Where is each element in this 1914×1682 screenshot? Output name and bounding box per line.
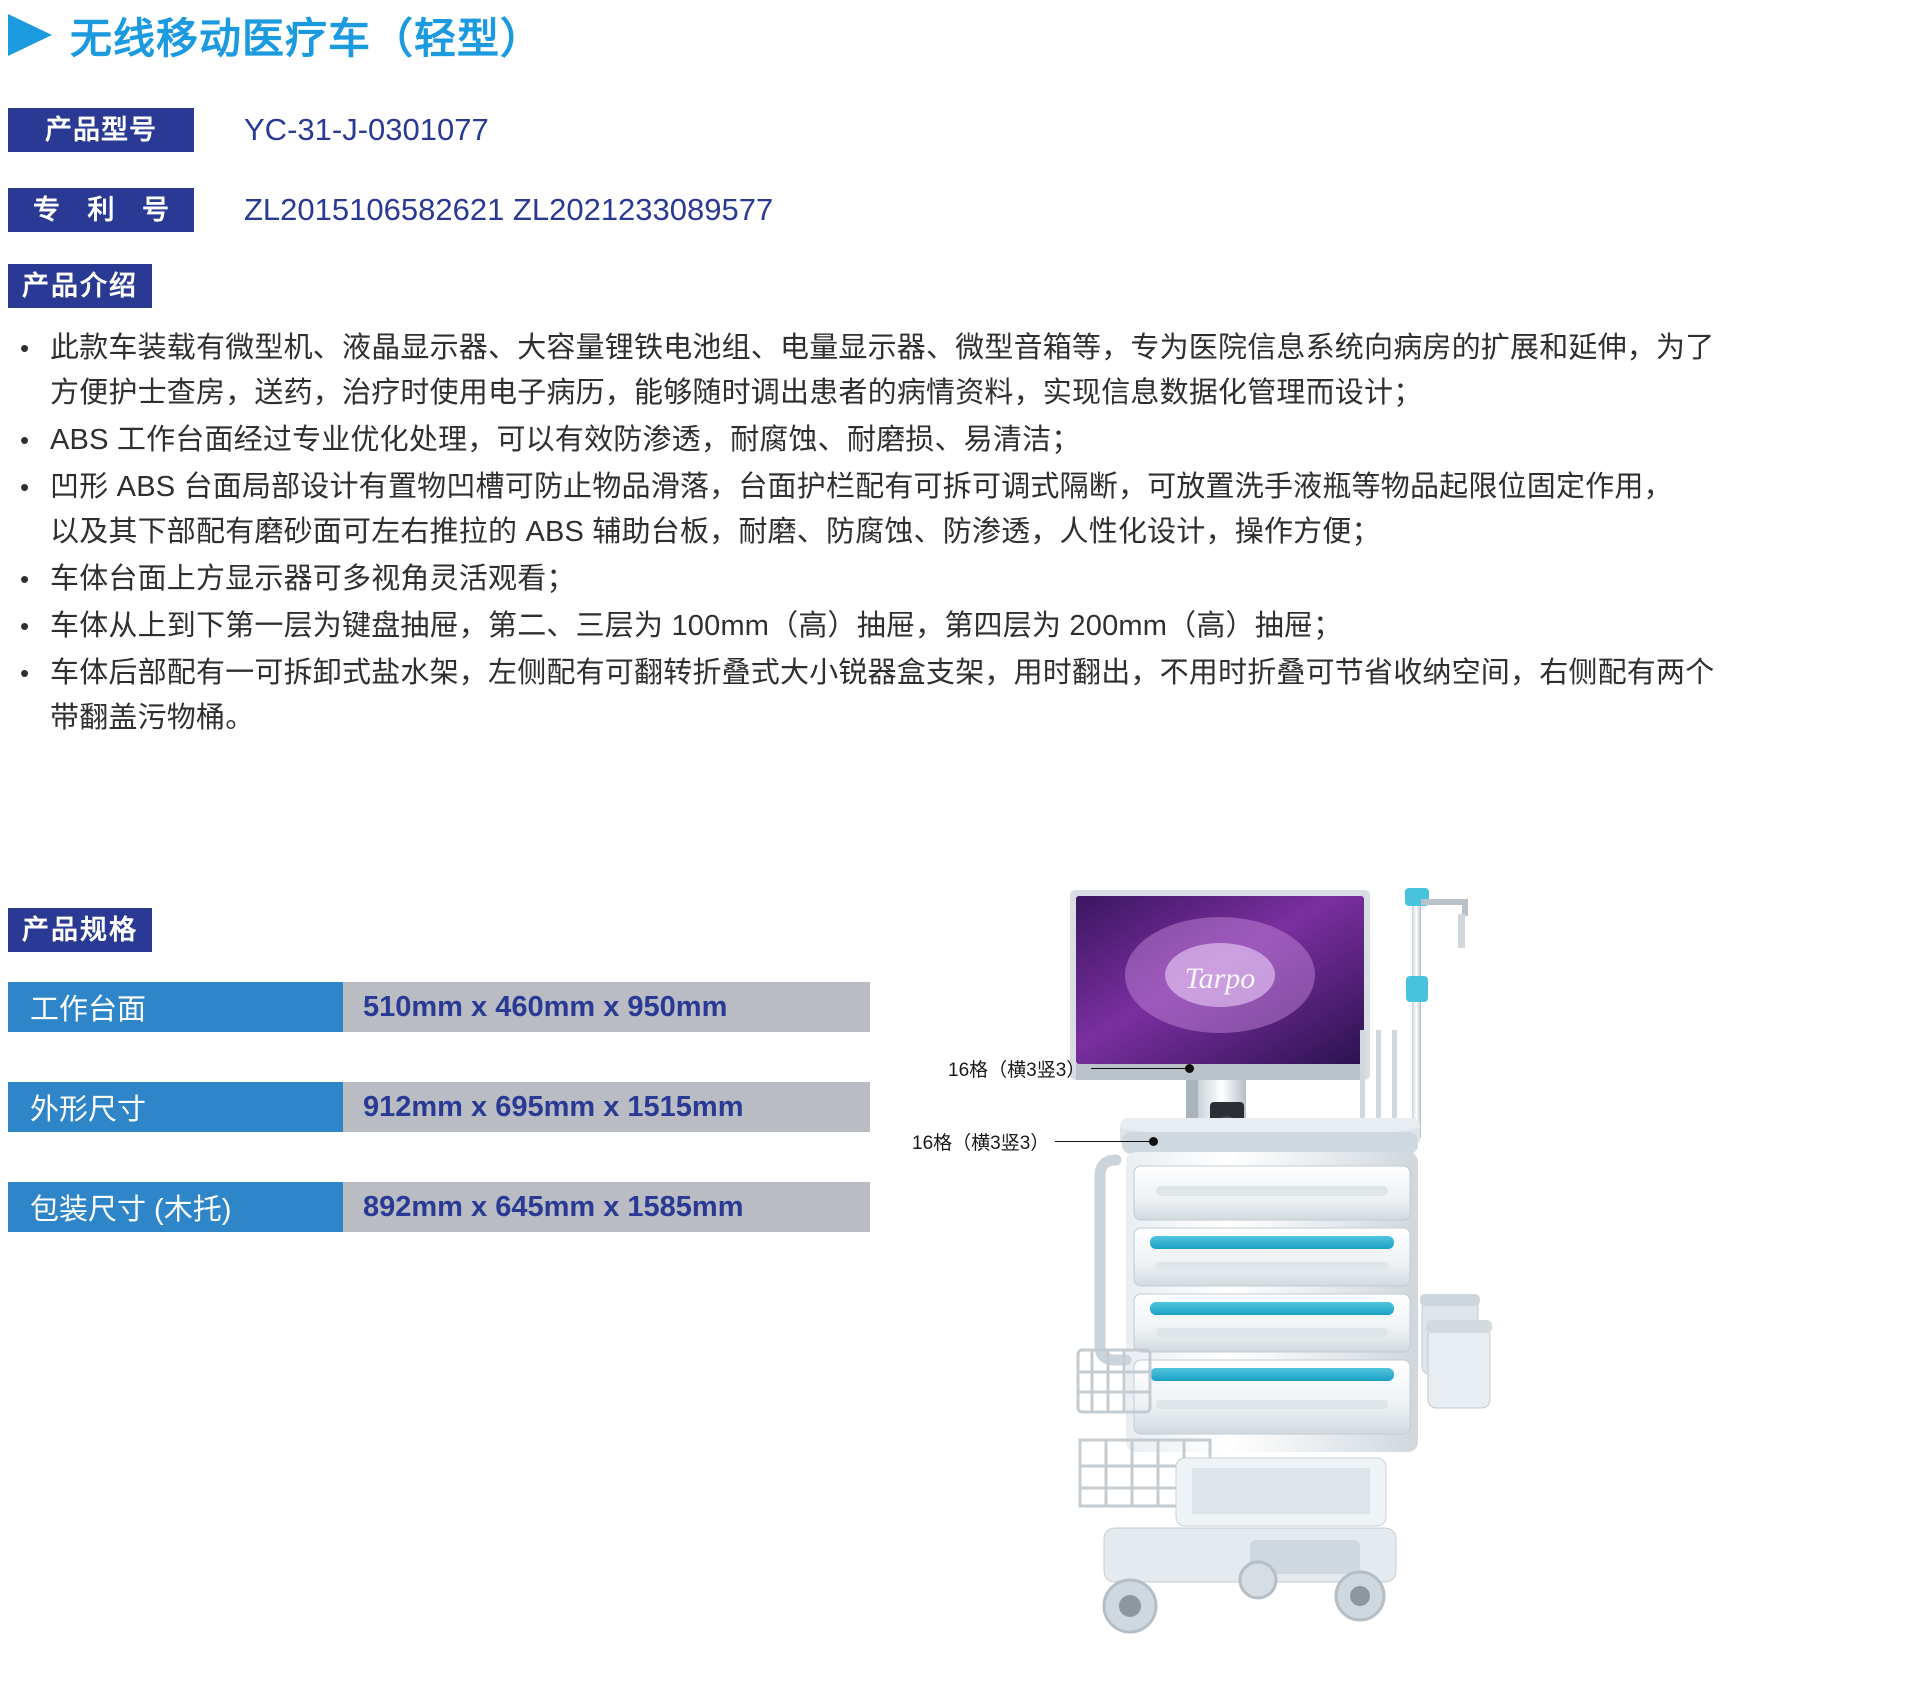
bullet-line: 以及其下部配有磨砂面可左右推拉的 ABS 辅助台板，耐磨、防腐蚀、防渗透，人性化… — [50, 510, 1888, 555]
patent-number-value: ZL2015106582621 ZL2021233089577 — [244, 192, 773, 228]
page-header: 无线移动医疗车（轻型） — [0, 0, 1100, 70]
triangle-play-icon — [8, 12, 52, 58]
page-title: 无线移动医疗车（轻型） — [70, 5, 543, 66]
patent-number-row: 专 利 号 ZL2015106582621 ZL2021233089577 — [8, 188, 773, 232]
svg-text:Tarpo: Tarpo — [1185, 962, 1256, 995]
table-row: 外形尺寸 912mm x 695mm x 1515mm — [8, 1082, 870, 1132]
bullet-line: 带翻盖污物桶。 — [50, 696, 1888, 741]
spec-value: 912mm x 695mm x 1515mm — [343, 1082, 870, 1132]
spec-label: 外形尺寸 — [8, 1082, 343, 1132]
patent-number-label: 专 利 号 — [8, 188, 194, 232]
bullet-line: ABS 工作台面经过专业优化处理，可以有效防渗透，耐腐蚀、耐磨损、易清洁； — [50, 418, 1888, 463]
bullet-line: 车体后部配有一可拆卸式盐水架，左侧配有可翻转折叠式大小锐器盒支架，用时翻出，不用… — [50, 651, 1888, 696]
spec-label: 包装尺寸 (木托) — [8, 1182, 343, 1232]
list-item: 车体台面上方显示器可多视角灵活观看； — [8, 557, 1888, 602]
callout-label: 16格（横3竖3） — [912, 1128, 1049, 1155]
list-item: 此款车装载有微型机、液晶显示器、大容量锂铁电池组、电量显示器、微型音箱等，专为医… — [8, 326, 1888, 416]
spec-value: 510mm x 460mm x 950mm — [343, 982, 870, 1032]
bullet-line: 车体从上到下第一层为键盘抽屉，第二、三层为 100mm（高）抽屉，第四层为 20… — [50, 604, 1888, 649]
callout-lower: 16格（横3竖3） — [912, 1128, 1158, 1155]
callout-label: 16格（横3竖3） — [948, 1055, 1085, 1082]
section-title-intro: 产品介绍 — [8, 264, 152, 308]
callout-leader-line — [1055, 1141, 1151, 1142]
table-row: 工作台面 510mm x 460mm x 950mm — [8, 982, 870, 1032]
table-row-divider — [8, 1132, 870, 1182]
section-title-spec: 产品规格 — [8, 908, 152, 952]
callout-dot — [1149, 1137, 1158, 1146]
list-item: 车体从上到下第一层为键盘抽屉，第二、三层为 100mm（高）抽屉，第四层为 20… — [8, 604, 1888, 649]
list-item: ABS 工作台面经过专业优化处理，可以有效防渗透，耐腐蚀、耐磨损、易清洁； — [8, 418, 1888, 463]
bullet-line: 方便护士查房，送药，治疗时使用电子病历，能够随时调出患者的病情资料，实现信息数据… — [50, 371, 1888, 416]
product-model-row: 产品型号 YC-31-J-0301077 — [8, 108, 489, 152]
table-row: 包装尺寸 (木托) 892mm x 645mm x 1585mm — [8, 1182, 870, 1232]
list-item: 凹形 ABS 台面局部设计有置物凹槽可防止物品滑落，台面护栏配有可拆可调式隔断，… — [8, 465, 1888, 555]
table-row-divider — [8, 1032, 870, 1082]
bullet-line: 凹形 ABS 台面局部设计有置物凹槽可防止物品滑落，台面护栏配有可拆可调式隔断，… — [50, 465, 1888, 510]
bullet-line: 车体台面上方显示器可多视角灵活观看； — [50, 557, 1888, 602]
medical-cart-illustration: Tarpo — [1060, 880, 1820, 1670]
spec-table: 工作台面 510mm x 460mm x 950mm 外形尺寸 912mm x … — [8, 982, 870, 1232]
callout-upper: 16格（横3竖3） — [948, 1055, 1194, 1082]
spec-label: 工作台面 — [8, 982, 343, 1032]
callout-leader-line — [1091, 1068, 1187, 1069]
product-photo: Tarpo — [1060, 880, 1820, 1670]
list-item: 车体后部配有一可拆卸式盐水架，左侧配有可翻转折叠式大小锐器盒支架，用时翻出，不用… — [8, 651, 1888, 741]
bullet-line: 此款车装载有微型机、液晶显示器、大容量锂铁电池组、电量显示器、微型音箱等，专为医… — [50, 326, 1888, 371]
callout-dot — [1185, 1064, 1194, 1073]
product-model-value: YC-31-J-0301077 — [244, 112, 489, 148]
product-model-label: 产品型号 — [8, 108, 194, 152]
spec-value: 892mm x 645mm x 1585mm — [343, 1182, 870, 1232]
intro-bullet-list: 此款车装载有微型机、液晶显示器、大容量锂铁电池组、电量显示器、微型音箱等，专为医… — [8, 326, 1888, 743]
